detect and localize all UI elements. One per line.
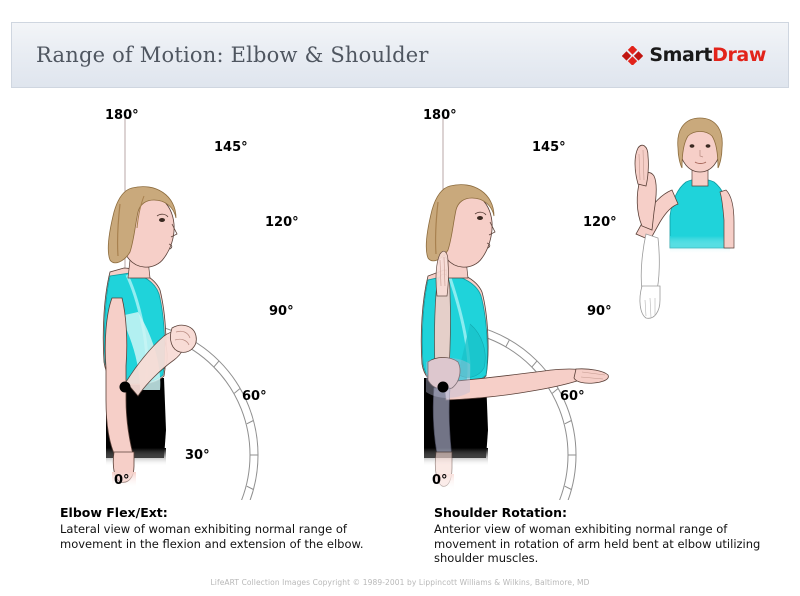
angle-label-145: 145° [532,140,566,155]
shoulder-rotation-illustration [400,100,786,500]
woman-anterior-figure [421,185,608,490]
angle-label-60: 60° [242,389,267,404]
caption-shoulder-title: Shoulder Rotation: [434,505,784,520]
angle-label-180: 180° [105,108,139,123]
page-root: Range of Motion: Elbow & Shoulder SmartD… [0,0,800,596]
smartdraw-diamond-icon [622,46,643,65]
caption-shoulder: Shoulder Rotation: Anterior view of woma… [434,505,784,566]
caption-shoulder-body: Anterior view of woman exhibiting normal… [434,522,784,566]
woman-lateral-figure [103,187,196,488]
angle-label-120: 120° [583,215,617,230]
caption-elbow-title: Elbow Flex/Ext: [60,505,410,520]
smartdraw-wordmark: SmartDraw [649,44,766,66]
page-title: Range of Motion: Elbow & Shoulder [36,43,429,67]
logo-text-draw: Draw [712,44,766,66]
smartdraw-logo[interactable]: SmartDraw [622,44,766,66]
angle-label-120: 120° [265,215,299,230]
angle-label-0: 0° [432,473,448,488]
elbow-pivot-dot [120,382,131,393]
angle-label-30: 30° [185,448,210,463]
diagram-elbow-flex-ext: 180° 145° 120° 90° 60° 30° 0° [14,100,400,500]
shoulder-pivot-dot [438,382,449,393]
diagram-shoulder-rotation: 180° 145° 120° 90° 60° 0° [400,100,786,500]
angle-label-60: 60° [560,389,585,404]
angle-label-90: 90° [587,304,612,319]
angle-label-180: 180° [423,108,457,123]
logo-text-smart: Smart [649,44,712,66]
elbow-flex-ext-illustration [14,100,400,500]
inset-anterior-figure [635,118,734,318]
header-bar: Range of Motion: Elbow & Shoulder SmartD… [11,22,789,88]
copyright-footer: LifeART Collection Images Copyright © 19… [0,578,800,587]
angle-label-90: 90° [269,304,294,319]
caption-elbow: Elbow Flex/Ext: Lateral view of woman ex… [60,505,410,551]
angle-label-0: 0° [114,473,130,488]
caption-elbow-body: Lateral view of woman exhibiting normal … [60,522,410,551]
angle-label-145: 145° [214,140,248,155]
